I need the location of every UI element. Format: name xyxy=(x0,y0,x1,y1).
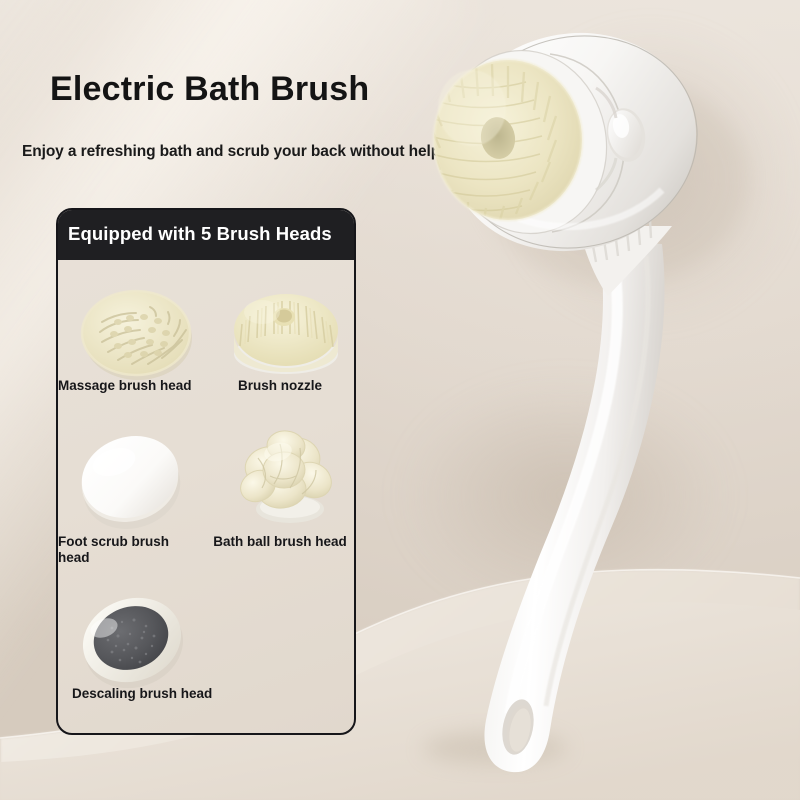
brush-head-item-nozzle[interactable]: Brush nozzle xyxy=(206,260,354,410)
brush-head-item-bath-ball[interactable]: Bath ball brush head xyxy=(206,410,354,570)
foot-scrub-disc-icon xyxy=(72,424,192,534)
brush-head xyxy=(430,60,582,220)
brush-head-label: Foot scrub brush head xyxy=(58,534,198,566)
brush-handle xyxy=(484,240,664,772)
bristle-disc-icon xyxy=(228,272,346,382)
brush-head-item-foot-scrub[interactable]: Foot scrub brush head xyxy=(58,410,206,570)
card-header-label: Equipped with 5 Brush Heads xyxy=(56,223,332,245)
page-title: Electric Bath Brush xyxy=(50,70,369,109)
brush-head-label: Bath ball brush head xyxy=(210,534,350,550)
product-illustration xyxy=(400,30,800,790)
card-header: Equipped with 5 Brush Heads xyxy=(56,208,356,260)
brush-head-label: Brush nozzle xyxy=(206,378,354,394)
page-subtitle: Enjoy a refreshing bath and scrub your b… xyxy=(22,143,440,161)
bath-ball-icon xyxy=(224,414,344,532)
brush-head-item-descaling[interactable]: Descaling brush head xyxy=(58,570,354,730)
brush-head-item-massage[interactable]: Massage brush head xyxy=(58,260,206,410)
brush-heads-card: Equipped with 5 Brush Heads xyxy=(56,208,356,735)
brush-head-label: Massage brush head xyxy=(58,378,206,394)
descaling-disc-icon xyxy=(74,584,194,692)
card-body: Massage brush head xyxy=(58,260,354,735)
brush-head-label: Descaling brush head xyxy=(72,686,272,702)
product-marketing-image: Electric Bath Brush Enjoy a refreshing b… xyxy=(0,0,800,800)
massage-disc-icon xyxy=(74,278,198,386)
